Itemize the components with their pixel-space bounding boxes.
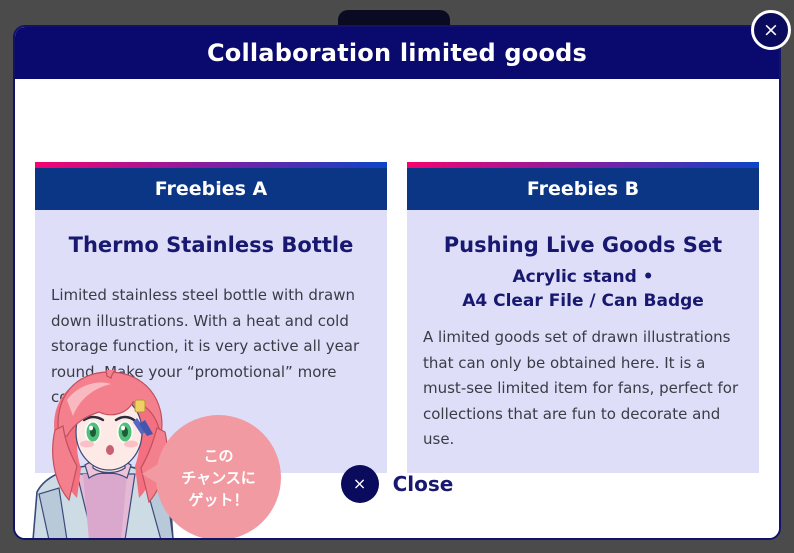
modal-title: Collaboration limited goods [207, 39, 587, 67]
collaboration-goods-modal: Collaboration limited goods Freebies A T… [13, 25, 781, 540]
close-button[interactable]: × Close [15, 465, 779, 503]
close-modal-icon-button[interactable]: × [751, 10, 791, 50]
card-description-b: A limited goods set of drawn illustratio… [423, 325, 743, 453]
card-body-b: Pushing Live Goods Set Acrylic stand • A… [407, 210, 759, 473]
speech-bubble: この チャンスに ゲット！ [156, 415, 281, 540]
card-header-label-b: Freebies B [527, 178, 639, 200]
close-button-label: Close [393, 472, 454, 496]
modal-header: Collaboration limited goods [15, 27, 779, 79]
modal-body: Freebies A Thermo Stainless Bottle Limit… [15, 79, 779, 540]
speech-bubble-line-3: ゲット！ [188, 489, 248, 511]
speech-bubble-line-2: チャンスに [181, 467, 256, 489]
card-subtitle-b-line1: Acrylic stand • [423, 265, 743, 289]
card-header-a: Freebies A [35, 168, 387, 210]
card-title-a: Thermo Stainless Bottle [51, 232, 371, 259]
speech-bubble-line-1: この [203, 445, 233, 467]
close-icon[interactable]: × [341, 465, 379, 503]
card-header-label-a: Freebies A [155, 178, 268, 200]
freebies-card-b: Freebies B Pushing Live Goods Set Acryli… [407, 162, 759, 473]
card-body-a: Thermo Stainless Bottle Limited stainles… [35, 210, 387, 447]
card-description-a: Limited stainless steel bottle with draw… [51, 283, 371, 411]
card-title-b: Pushing Live Goods Set [423, 232, 743, 259]
card-subtitle-b-line2: A4 Clear File / Can Badge [423, 289, 743, 313]
card-header-b: Freebies B [407, 168, 759, 210]
freebies-card-list: Freebies A Thermo Stainless Bottle Limit… [15, 162, 779, 473]
